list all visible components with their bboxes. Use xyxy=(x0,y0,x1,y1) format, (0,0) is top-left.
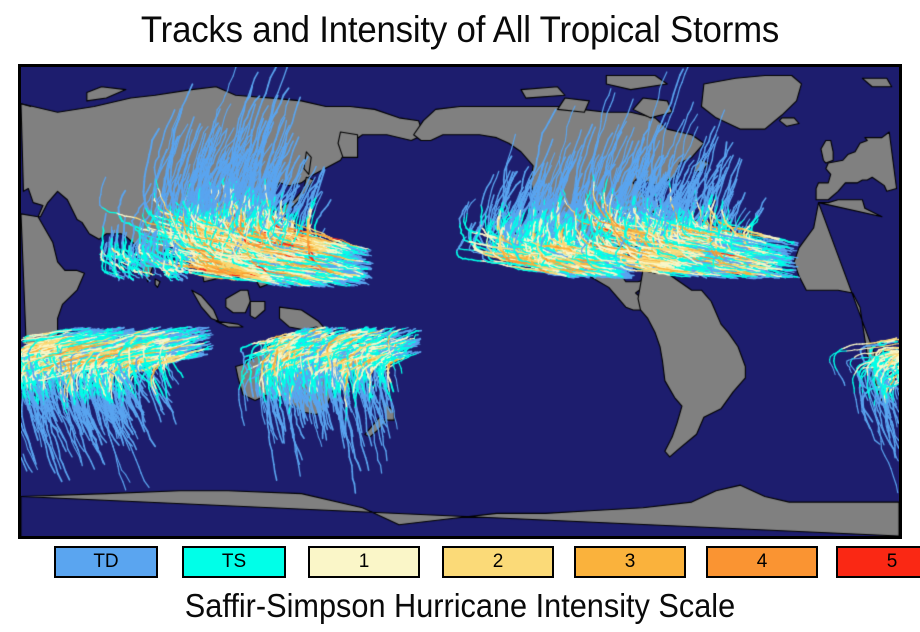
page-title: Tracks and Intensity of All Tropical Sto… xyxy=(28,2,893,58)
legend-caption: Saffir-Simpson Hurricane Intensity Scale xyxy=(32,583,888,629)
legend-item-label: 5 xyxy=(887,552,898,571)
storm-track-map-canvas xyxy=(21,67,899,536)
legend-item-label: 2 xyxy=(493,552,504,571)
legend-item-ts[interactable]: TS xyxy=(182,546,286,578)
legend-item-label: TS xyxy=(222,552,246,571)
legend-item-2[interactable]: 2 xyxy=(442,546,554,578)
saffir-simpson-legend: TDTS12345 xyxy=(18,546,902,580)
legend-item-3[interactable]: 3 xyxy=(574,546,686,578)
legend-item-td[interactable]: TD xyxy=(54,546,158,578)
legend-item-1[interactable]: 1 xyxy=(308,546,420,578)
legend-item-4[interactable]: 4 xyxy=(706,546,818,578)
legend-item-label: 4 xyxy=(757,552,768,571)
legend-item-label: 1 xyxy=(359,552,370,571)
legend-item-label: TD xyxy=(93,552,118,571)
figure-root: Tracks and Intensity of All Tropical Sto… xyxy=(0,0,920,632)
world-map xyxy=(18,64,902,539)
legend-item-label: 3 xyxy=(625,552,636,571)
legend-item-5[interactable]: 5 xyxy=(836,546,920,578)
